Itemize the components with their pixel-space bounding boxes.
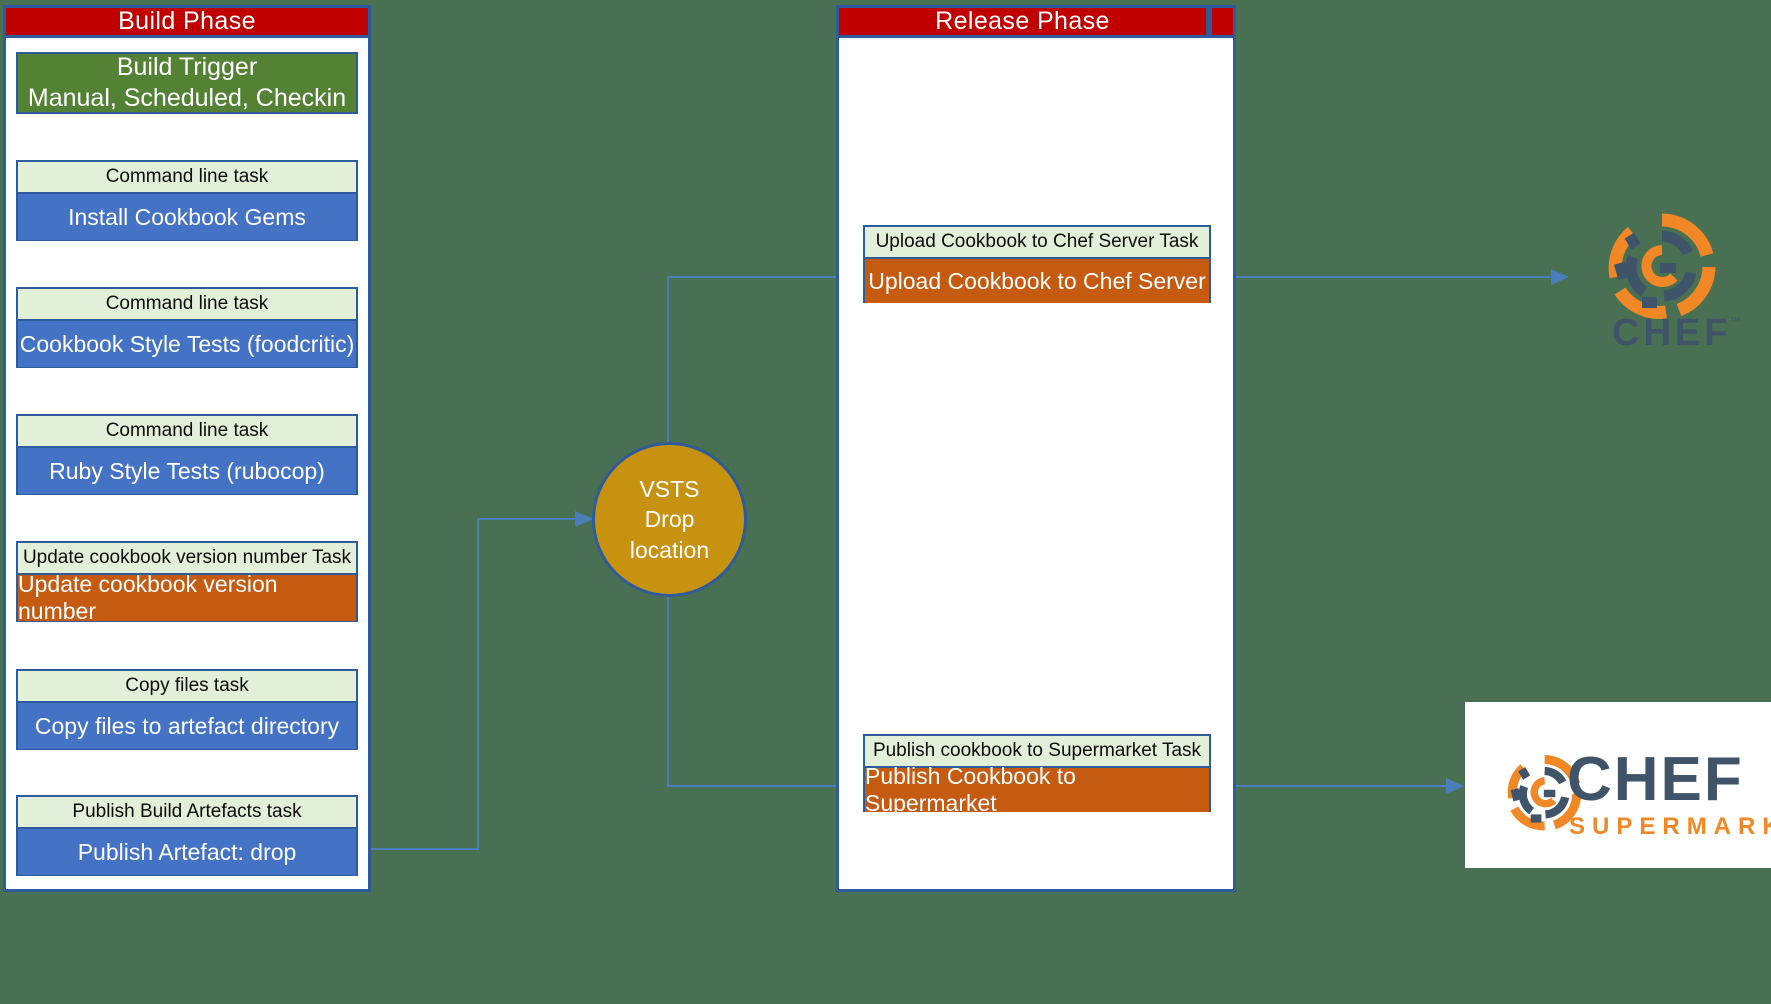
chef-logo: CHEF ™ — [1570, 205, 1755, 350]
release-step-publish-cookbook-supermarket[interactable]: Publish cookbook to Supermarket Task Pub… — [863, 734, 1211, 812]
release-phase-header-stub — [1209, 5, 1236, 38]
supermarket-subtitle: SUPERMARKET — [1569, 813, 1771, 840]
task-type-label: Command line task — [18, 416, 356, 448]
chef-wordmark: CHEF — [1612, 312, 1731, 350]
task-type-label: Upload Cookbook to Chef Server Task — [865, 227, 1209, 259]
arrow-drop-to-upload — [668, 277, 855, 442]
drop-line-1: VSTS — [639, 474, 699, 504]
build-trigger-line1: Build Trigger — [117, 52, 257, 83]
task-type-label: Command line task — [18, 162, 356, 194]
release-step-upload-cookbook-chef-server[interactable]: Upload Cookbook to Chef Server Task Uplo… — [863, 225, 1211, 303]
vsts-drop-location-node[interactable]: VSTS Drop location — [592, 442, 747, 597]
task-name-label: Upload Cookbook to Chef Server — [865, 259, 1209, 303]
build-trigger-line2: Manual, Scheduled, Checkin — [28, 83, 346, 114]
build-step-copy-files[interactable]: Copy files task Copy files to artefact d… — [16, 669, 358, 750]
task-name-label: Publish Cookbook to Supermarket — [865, 768, 1209, 812]
task-type-label: Copy files task — [18, 671, 356, 703]
chef-trademark: ™ — [1730, 316, 1741, 328]
chef-logo-mark: CHEF ™ — [1570, 205, 1755, 350]
task-name-label: Update cookbook version number — [18, 575, 356, 621]
task-name-label: Ruby Style Tests (rubocop) — [18, 448, 356, 494]
drop-line-2: Drop — [645, 504, 695, 534]
task-name-label: Cookbook Style Tests (foodcritic) — [18, 321, 356, 367]
chef-supermarket-logo: CHEF SUPERMARKET — [1465, 702, 1771, 868]
release-phase-title: Release Phase — [935, 7, 1110, 36]
supermarket-chef-wordmark: CHEF — [1567, 745, 1744, 814]
release-phase-header: Release Phase — [836, 5, 1209, 38]
build-step-publish-artefact[interactable]: Publish Build Artefacts task Publish Art… — [16, 795, 358, 876]
build-step-update-cookbook-version[interactable]: Update cookbook version number Task Upda… — [16, 541, 358, 622]
chef-supermarket-logo-mark: CHEF SUPERMARKET — [1465, 702, 1771, 868]
task-name-label: Copy files to artefact directory — [18, 703, 356, 749]
build-phase-title: Build Phase — [118, 7, 256, 36]
drop-line-3: location — [630, 535, 709, 565]
build-step-install-cookbook-gems[interactable]: Command line task Install Cookbook Gems — [16, 160, 358, 241]
arrow-artefact-to-drop — [363, 519, 592, 849]
task-type-label: Command line task — [18, 289, 356, 321]
task-name-label: Publish Artefact: drop — [18, 829, 356, 875]
arrow-drop-to-supermarket — [668, 597, 855, 786]
build-step-cookbook-style-tests[interactable]: Command line task Cookbook Style Tests (… — [16, 287, 358, 368]
build-step-build-trigger[interactable]: Build Trigger Manual, Scheduled, Checkin — [16, 52, 358, 114]
build-phase-header: Build Phase — [3, 5, 371, 38]
task-type-label: Publish Build Artefacts task — [18, 797, 356, 829]
build-step-ruby-style-tests[interactable]: Command line task Ruby Style Tests (rubo… — [16, 414, 358, 495]
task-name-label: Install Cookbook Gems — [18, 194, 356, 240]
